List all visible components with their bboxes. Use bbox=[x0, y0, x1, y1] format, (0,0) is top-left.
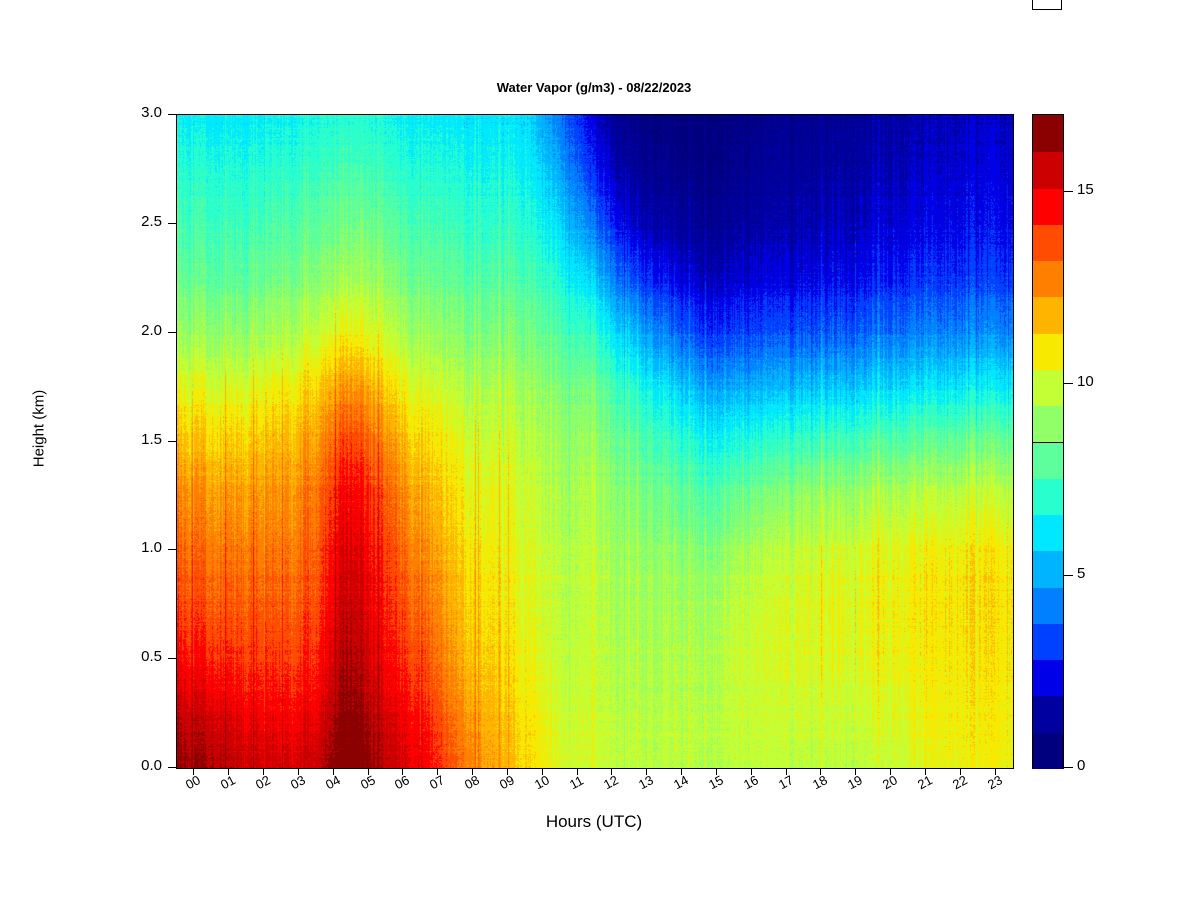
y-tick-label: 3.0 bbox=[141, 104, 162, 121]
x-tick-label: 16 bbox=[741, 772, 761, 792]
y-axis-title: Height (km) bbox=[31, 369, 48, 489]
colorbar-band bbox=[1033, 587, 1063, 624]
y-tick-label: 0.0 bbox=[141, 757, 162, 774]
x-axis-title: Hours (UTC) bbox=[176, 812, 1012, 832]
x-tick-mark bbox=[786, 768, 787, 775]
y-tick-mark bbox=[168, 549, 176, 550]
y-tick-label: 2.5 bbox=[141, 213, 162, 230]
x-tick-label: 18 bbox=[810, 772, 830, 792]
colorbar-band bbox=[1033, 478, 1063, 515]
x-tick-mark bbox=[820, 768, 821, 775]
page-title: Water Vapor (g/m3) - 08/22/2023 bbox=[176, 80, 1012, 95]
x-tick-label: 17 bbox=[776, 772, 796, 792]
colorbar-band bbox=[1033, 260, 1063, 297]
x-tick-mark bbox=[333, 768, 334, 775]
y-tick-mark bbox=[168, 767, 176, 768]
colorbar-tick-mark bbox=[1064, 191, 1073, 192]
x-tick-label: 01 bbox=[218, 772, 238, 792]
colorbar-band bbox=[1033, 623, 1063, 660]
colorbar-tick-label: 10 bbox=[1077, 373, 1094, 390]
colorbar-band bbox=[1033, 151, 1063, 188]
x-tick-label: 21 bbox=[915, 772, 935, 792]
colorbar-band bbox=[1033, 115, 1063, 152]
x-tick-mark bbox=[402, 768, 403, 775]
x-tick-label: 06 bbox=[392, 772, 412, 792]
x-tick-mark bbox=[611, 768, 612, 775]
x-tick-mark bbox=[228, 768, 229, 775]
water-vapor-heatmap-figure: Water Vapor (g/m3) - 08/22/2023 0.00.51.… bbox=[0, 0, 1200, 900]
x-tick-label: 10 bbox=[532, 772, 552, 792]
x-tick-mark bbox=[925, 768, 926, 775]
colorbar-band bbox=[1033, 224, 1063, 261]
y-tick-label: 1.5 bbox=[141, 431, 162, 448]
colorbar-band bbox=[1033, 369, 1063, 406]
x-tick-label: 13 bbox=[636, 772, 656, 792]
x-tick-mark bbox=[681, 768, 682, 775]
colorbar-band bbox=[1033, 442, 1063, 479]
x-tick-mark bbox=[716, 768, 717, 775]
colorbar-tick-mark bbox=[1064, 383, 1073, 384]
y-tick-label: 0.5 bbox=[141, 648, 162, 665]
x-tick-mark bbox=[472, 768, 473, 775]
x-tick-label: 20 bbox=[880, 772, 900, 792]
x-tick-label: 05 bbox=[358, 772, 378, 792]
x-tick-mark bbox=[646, 768, 647, 775]
x-tick-mark bbox=[263, 768, 264, 775]
colorbar-band bbox=[1033, 514, 1063, 551]
colorbar-tick-mark bbox=[1064, 767, 1073, 768]
x-tick-mark bbox=[577, 768, 578, 775]
x-tick-label: 15 bbox=[706, 772, 726, 792]
colorbar-band bbox=[1033, 333, 1063, 370]
x-tick-label: 08 bbox=[462, 772, 482, 792]
x-tick-label: 09 bbox=[497, 772, 517, 792]
colorbar-tick-label: 5 bbox=[1077, 565, 1085, 582]
colorbar-band bbox=[1033, 732, 1063, 769]
x-tick-label: 12 bbox=[601, 772, 621, 792]
x-tick-mark bbox=[193, 768, 194, 775]
y-tick-mark bbox=[168, 223, 176, 224]
y-axis-tick-labels: 0.00.51.01.52.02.53.0 bbox=[100, 0, 162, 900]
y-tick-mark bbox=[168, 658, 176, 659]
x-tick-mark bbox=[995, 768, 996, 775]
x-tick-label: 04 bbox=[323, 772, 343, 792]
x-tick-label: 14 bbox=[671, 772, 691, 792]
x-tick-label: 19 bbox=[845, 772, 865, 792]
heatmap-plot-area bbox=[176, 114, 1014, 769]
x-tick-label: 23 bbox=[985, 772, 1005, 792]
x-tick-mark bbox=[855, 768, 856, 775]
colorbar bbox=[1032, 114, 1064, 769]
colorbar-band bbox=[1033, 550, 1063, 587]
colorbar-band bbox=[1033, 188, 1063, 225]
y-tick-mark bbox=[168, 441, 176, 442]
x-tick-label: 07 bbox=[427, 772, 447, 792]
x-tick-mark bbox=[542, 768, 543, 775]
x-tick-label: 00 bbox=[183, 772, 203, 792]
colorbar-tick-mark bbox=[1064, 575, 1073, 576]
colorbar-band bbox=[1033, 405, 1063, 442]
x-tick-label: 03 bbox=[288, 772, 308, 792]
x-tick-mark bbox=[960, 768, 961, 775]
x-tick-label: 02 bbox=[253, 772, 273, 792]
colorbar-band bbox=[1033, 659, 1063, 696]
y-tick-label: 2.0 bbox=[141, 322, 162, 339]
x-tick-label: 22 bbox=[950, 772, 970, 792]
x-tick-mark bbox=[507, 768, 508, 775]
colorbar-band bbox=[1033, 695, 1063, 732]
heatmap-canvas bbox=[177, 115, 1013, 768]
y-tick-label: 1.0 bbox=[141, 539, 162, 556]
colorbar-top-marker bbox=[1032, 0, 1062, 10]
x-tick-mark bbox=[890, 768, 891, 775]
colorbar-tick-label: 15 bbox=[1077, 181, 1094, 198]
x-tick-mark bbox=[437, 768, 438, 775]
y-tick-mark bbox=[168, 332, 176, 333]
x-tick-label: 11 bbox=[567, 773, 586, 793]
x-tick-mark bbox=[368, 768, 369, 775]
colorbar-band bbox=[1033, 296, 1063, 333]
colorbar-tick-label: 0 bbox=[1077, 757, 1085, 774]
y-tick-mark bbox=[168, 114, 176, 115]
x-tick-mark bbox=[298, 768, 299, 775]
x-tick-mark bbox=[751, 768, 752, 775]
